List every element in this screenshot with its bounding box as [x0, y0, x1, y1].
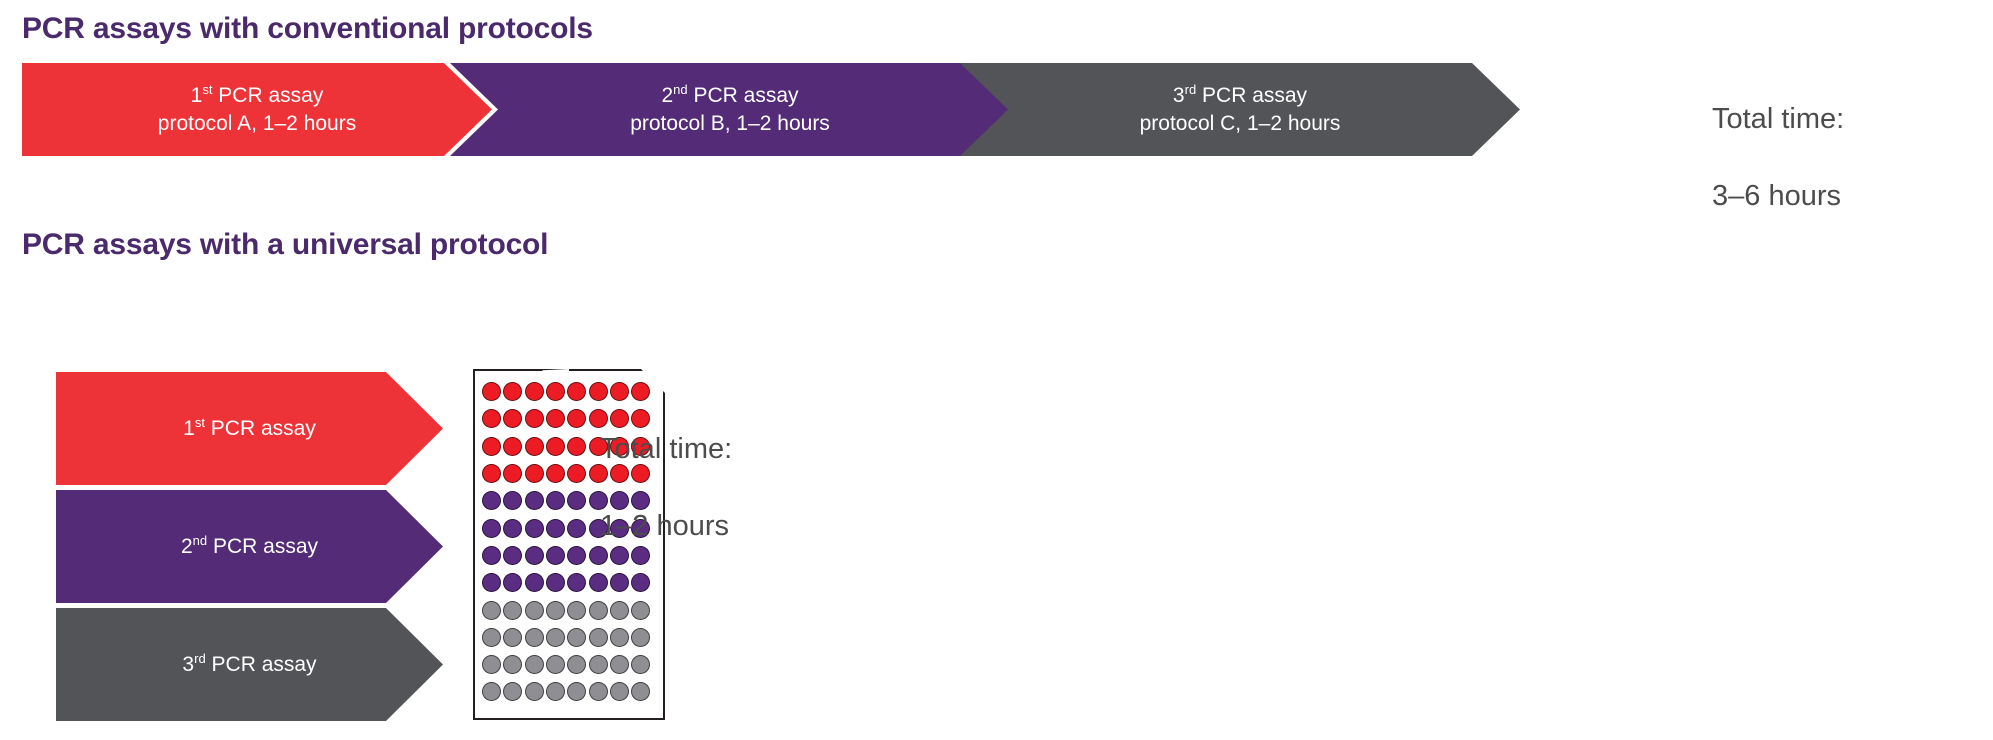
well-r7-c5 — [567, 546, 586, 565]
well-r11-c7 — [610, 655, 629, 674]
conventional-step-1[interactable]: 1st PCR assay protocol A, 1–2 hours — [22, 63, 492, 156]
well-r10-c3 — [525, 628, 544, 647]
universal-total-time-value: 1–2 hours — [600, 507, 732, 545]
conventional-step-3-detail: protocol C, 1–2 hours — [1140, 112, 1341, 135]
well-r4-c1 — [482, 464, 501, 483]
well-r12-c7 — [610, 682, 629, 701]
conventional-total-time: Total time: 3–6 hours — [1712, 62, 1844, 253]
conventional-step-3-ordinal-suffix: rd — [1185, 82, 1197, 97]
conventional-step-1-ordinal: 1 — [191, 84, 203, 107]
universal-step-2-label: 2nd PCR assay — [181, 535, 318, 559]
well-r10-c1 — [482, 628, 501, 647]
well-r10-c7 — [610, 628, 629, 647]
universal-step-1-label: 1st PCR assay — [183, 417, 316, 441]
well-r6-c2 — [503, 519, 522, 538]
well-r3-c1 — [482, 437, 501, 456]
conventional-step-3[interactable]: 3rd PCR assay protocol C, 1–2 hours — [960, 63, 1520, 156]
well-r2-c2 — [503, 409, 522, 428]
conventional-total-time-value: 3–6 hours — [1712, 177, 1844, 215]
well-r10-c5 — [567, 628, 586, 647]
conventional-step-1-name-rest: PCR assay — [212, 84, 323, 107]
well-r8-c1 — [482, 573, 501, 592]
well-r9-c5 — [567, 601, 586, 620]
well-r10-c8 — [631, 628, 650, 647]
well-r1-c5 — [567, 382, 586, 401]
conventional-step-2-detail: protocol B, 1–2 hours — [630, 112, 830, 135]
well-r12-c8 — [631, 682, 650, 701]
universal-step-1-name-rest: PCR assay — [205, 417, 316, 440]
well-r11-c1 — [482, 655, 501, 674]
universal-step-1[interactable]: 1st PCR assay — [56, 372, 443, 485]
well-r5-c4 — [546, 491, 565, 510]
well-r6-c4 — [546, 519, 565, 538]
well-r1-c4 — [546, 382, 565, 401]
well-r7-c1 — [482, 546, 501, 565]
well-r9-c3 — [525, 601, 544, 620]
well-r8-c2 — [503, 573, 522, 592]
well-r7-c3 — [525, 546, 544, 565]
well-r1-c2 — [503, 382, 522, 401]
well-r10-c6 — [589, 628, 608, 647]
conventional-total-time-label: Total time: — [1712, 100, 1844, 138]
well-r2-c1 — [482, 409, 501, 428]
well-r4-c3 — [525, 464, 544, 483]
well-r7-c4 — [546, 546, 565, 565]
well-r2-c3 — [525, 409, 544, 428]
well-r4-c5 — [567, 464, 586, 483]
well-r12-c4 — [546, 682, 565, 701]
conventional-step-2-ordinal: 2 — [661, 84, 673, 107]
well-r3-c5 — [567, 437, 586, 456]
well-r9-c1 — [482, 601, 501, 620]
well-r11-c6 — [589, 655, 608, 674]
well-r1-c1 — [482, 382, 501, 401]
well-r5-c2 — [503, 491, 522, 510]
well-r2-c5 — [567, 409, 586, 428]
heading-conventional-protocols: PCR assays with conventional protocols — [22, 12, 593, 46]
well-r3-c2 — [503, 437, 522, 456]
well-r5-c3 — [525, 491, 544, 510]
conventional-step-2-ordinal-suffix: nd — [673, 82, 687, 97]
conventional-step-3-label: 3rd PCR assay protocol C, 1–2 hours — [1140, 82, 1341, 137]
conventional-step-1-detail: protocol A, 1–2 hours — [158, 112, 356, 135]
well-r12-c2 — [503, 682, 522, 701]
universal-step-3-label: 3rd PCR assay — [182, 653, 316, 677]
well-r6-c5 — [567, 519, 586, 538]
conventional-step-1-ordinal-suffix: st — [202, 82, 212, 97]
universal-step-3-ordinal-suffix: rd — [194, 651, 206, 666]
well-r11-c4 — [546, 655, 565, 674]
well-r8-c3 — [525, 573, 544, 592]
well-r5-c5 — [567, 491, 586, 510]
universal-step-2-ordinal: 2 — [181, 535, 193, 558]
heading-universal-protocol: PCR assays with a universal protocol — [22, 228, 548, 262]
pcr-protocol-diagram: { "colors": { "red": "#EE3338", "purple"… — [0, 0, 1993, 740]
conventional-step-2-name-rest: PCR assay — [688, 84, 799, 107]
conventional-step-2[interactable]: 2nd PCR assay protocol B, 1–2 hours — [450, 63, 1010, 156]
well-r10-c4 — [546, 628, 565, 647]
well-r5-c1 — [482, 491, 501, 510]
well-r9-c7 — [610, 601, 629, 620]
well-r6-c3 — [525, 519, 544, 538]
well-r2-c4 — [546, 409, 565, 428]
well-r8-c5 — [567, 573, 586, 592]
universal-total-time-label: Total time: — [600, 430, 732, 468]
well-r6-c1 — [482, 519, 501, 538]
universal-step-1-ordinal: 1 — [183, 417, 195, 440]
well-r4-c4 — [546, 464, 565, 483]
well-r9-c4 — [546, 601, 565, 620]
well-r9-c2 — [503, 601, 522, 620]
well-r3-c4 — [546, 437, 565, 456]
well-r12-c1 — [482, 682, 501, 701]
well-r1-c3 — [525, 382, 544, 401]
well-r3-c3 — [525, 437, 544, 456]
universal-total-time: Total time: 1–2 hours — [600, 392, 732, 583]
universal-step-3[interactable]: 3rd PCR assay — [56, 608, 443, 721]
conventional-step-3-name-rest: PCR assay — [1196, 84, 1307, 107]
well-r11-c5 — [567, 655, 586, 674]
universal-step-3-name-rest: PCR assay — [206, 653, 317, 676]
universal-step-2[interactable]: 2nd PCR assay — [56, 490, 443, 603]
well-r9-c6 — [589, 601, 608, 620]
universal-step-2-ordinal-suffix: nd — [193, 533, 207, 548]
universal-step-3-ordinal: 3 — [182, 653, 194, 676]
universal-step-2-name-rest: PCR assay — [207, 535, 318, 558]
conventional-step-3-ordinal: 3 — [1173, 84, 1185, 107]
well-r7-c2 — [503, 546, 522, 565]
well-r12-c6 — [589, 682, 608, 701]
conventional-step-2-label: 2nd PCR assay protocol B, 1–2 hours — [630, 82, 830, 137]
well-r11-c3 — [525, 655, 544, 674]
well-r4-c2 — [503, 464, 522, 483]
well-r12-c5 — [567, 682, 586, 701]
well-r12-c3 — [525, 682, 544, 701]
well-r11-c8 — [631, 655, 650, 674]
well-r9-c8 — [631, 601, 650, 620]
well-r8-c4 — [546, 573, 565, 592]
well-r10-c2 — [503, 628, 522, 647]
universal-step-1-ordinal-suffix: st — [195, 415, 205, 430]
well-r11-c2 — [503, 655, 522, 674]
conventional-step-1-label: 1st PCR assay protocol A, 1–2 hours — [158, 82, 356, 137]
